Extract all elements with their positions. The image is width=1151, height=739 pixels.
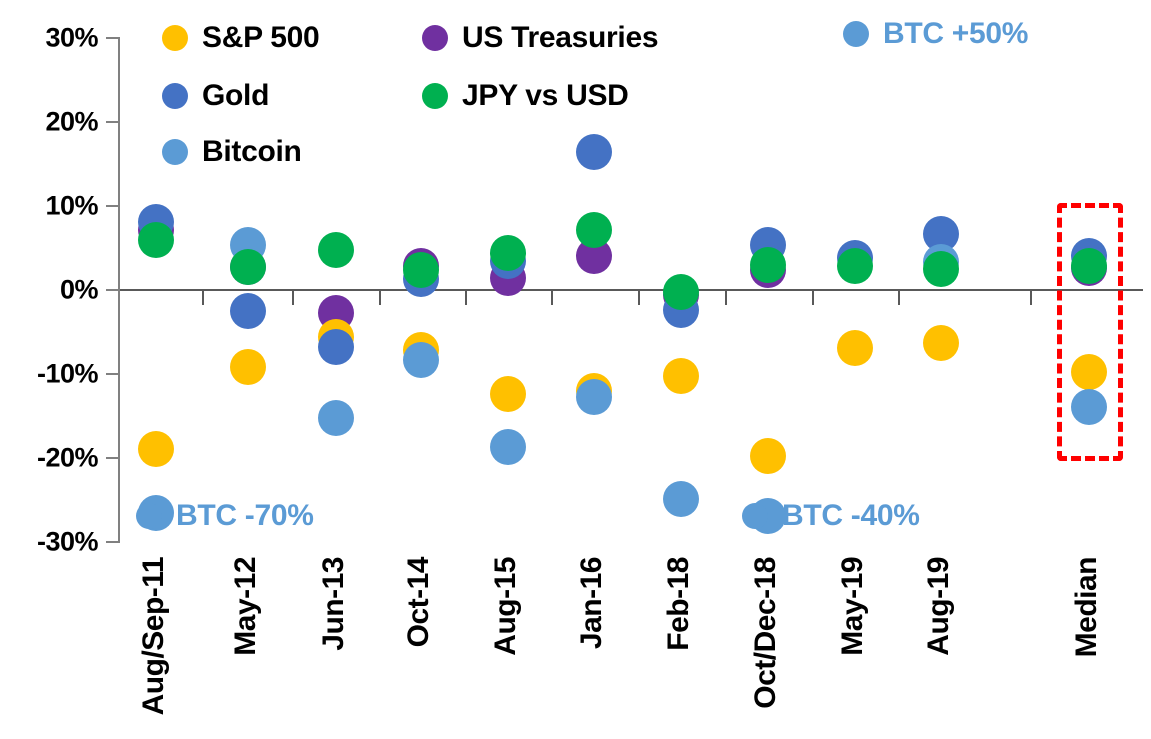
- chart-root: 30%20%10%0%-10%-20%-30%Aug/Sep-11May-12J…: [0, 0, 1151, 739]
- annotation-label: BTC +50%: [883, 17, 1028, 51]
- legend-label: JPY vs USD: [462, 79, 629, 113]
- x-axis-tick: [1030, 290, 1032, 305]
- data-point: [138, 431, 174, 467]
- data-point: [837, 248, 873, 284]
- y-tick-label: 10%: [45, 191, 98, 222]
- annotation-label: BTC -70%: [176, 499, 314, 533]
- x-axis-label: Jun-13: [319, 557, 349, 651]
- data-point: [750, 247, 786, 283]
- data-point: [663, 358, 699, 394]
- x-axis-label: Oct-14: [404, 557, 434, 647]
- data-point: [138, 222, 174, 258]
- legend-item-s-p-500: S&P 500: [162, 21, 319, 55]
- x-axis-tick: [898, 290, 900, 305]
- legend-swatch-icon: [162, 83, 188, 109]
- legend-item-jpy-vs-usd: JPY vs USD: [422, 79, 629, 113]
- legend-label: Gold: [202, 79, 269, 113]
- x-axis-tick: [202, 290, 204, 305]
- legend-label: S&P 500: [202, 21, 319, 55]
- x-axis-label: Aug/Sep-11: [139, 557, 169, 715]
- data-point: [318, 400, 354, 436]
- legend-label: Bitcoin: [202, 135, 302, 169]
- y-tick-label: 20%: [45, 107, 98, 138]
- legend-swatch-icon: [422, 83, 448, 109]
- data-point: [403, 252, 439, 288]
- y-tick-mark: [106, 37, 120, 39]
- data-point: [318, 232, 354, 268]
- y-tick-mark: [106, 121, 120, 123]
- x-axis-label: Oct/Dec-18: [751, 557, 781, 709]
- legend-item-gold: Gold: [162, 79, 269, 113]
- y-tick-mark: [106, 457, 120, 459]
- y-tick-label: 30%: [45, 23, 98, 54]
- data-point: [490, 429, 526, 465]
- y-tick-mark: [106, 289, 120, 291]
- x-axis-label: Jan-16: [577, 557, 607, 649]
- data-point: [318, 329, 354, 365]
- data-point: [663, 481, 699, 517]
- median-highlight-box: [1057, 203, 1123, 461]
- y-tick-mark: [106, 205, 120, 207]
- x-axis-label: May-12: [231, 557, 261, 656]
- legend-swatch-icon: [422, 25, 448, 51]
- data-point: [750, 438, 786, 474]
- x-axis-tick: [812, 290, 814, 305]
- annotation-btc-minus-70: BTC -70%: [136, 499, 314, 533]
- legend-item-us-treasuries: US Treasuries: [422, 21, 658, 55]
- data-point: [663, 274, 699, 310]
- data-point: [923, 325, 959, 361]
- data-point: [576, 379, 612, 415]
- annotation-btc-minus-40: BTC -40%: [742, 499, 920, 533]
- y-tick-label: 0%: [60, 275, 98, 306]
- legend-swatch-icon: [162, 25, 188, 51]
- legend-swatch-icon: [162, 139, 188, 165]
- annotation-btc-plus-50: BTC +50%: [843, 17, 1028, 51]
- data-point: [490, 235, 526, 271]
- x-axis-label: May-19: [838, 557, 868, 656]
- x-axis-tick: [465, 290, 467, 305]
- y-tick-label: -20%: [37, 443, 98, 474]
- annotation-label: BTC -40%: [782, 499, 920, 533]
- x-axis-label: Aug-15: [491, 557, 521, 656]
- y-tick-label: -10%: [37, 359, 98, 390]
- legend-item-bitcoin: Bitcoin: [162, 135, 302, 169]
- x-axis-tick: [638, 290, 640, 305]
- x-axis-tick: [725, 290, 727, 305]
- x-axis-label: Median: [1072, 557, 1102, 657]
- x-axis-tick: [551, 290, 553, 305]
- data-point: [576, 212, 612, 248]
- annotation-dot-icon: [742, 503, 768, 529]
- x-axis-label: Aug-19: [924, 557, 954, 656]
- x-axis-label: Feb-18: [664, 557, 694, 651]
- data-point: [923, 251, 959, 287]
- data-point: [837, 330, 873, 366]
- annotation-dot-icon: [136, 503, 162, 529]
- y-tick-label: -30%: [37, 527, 98, 558]
- data-point: [230, 293, 266, 329]
- zero-axis-line: [120, 289, 1143, 291]
- y-tick-mark: [106, 373, 120, 375]
- data-point: [403, 342, 439, 378]
- data-point: [576, 134, 612, 170]
- x-axis-tick: [292, 290, 294, 305]
- legend-label: US Treasuries: [462, 21, 658, 55]
- annotation-dot-icon: [843, 21, 869, 47]
- data-point: [230, 249, 266, 285]
- data-point: [490, 376, 526, 412]
- y-tick-mark: [106, 541, 120, 543]
- x-axis-tick: [379, 290, 381, 305]
- data-point: [230, 349, 266, 385]
